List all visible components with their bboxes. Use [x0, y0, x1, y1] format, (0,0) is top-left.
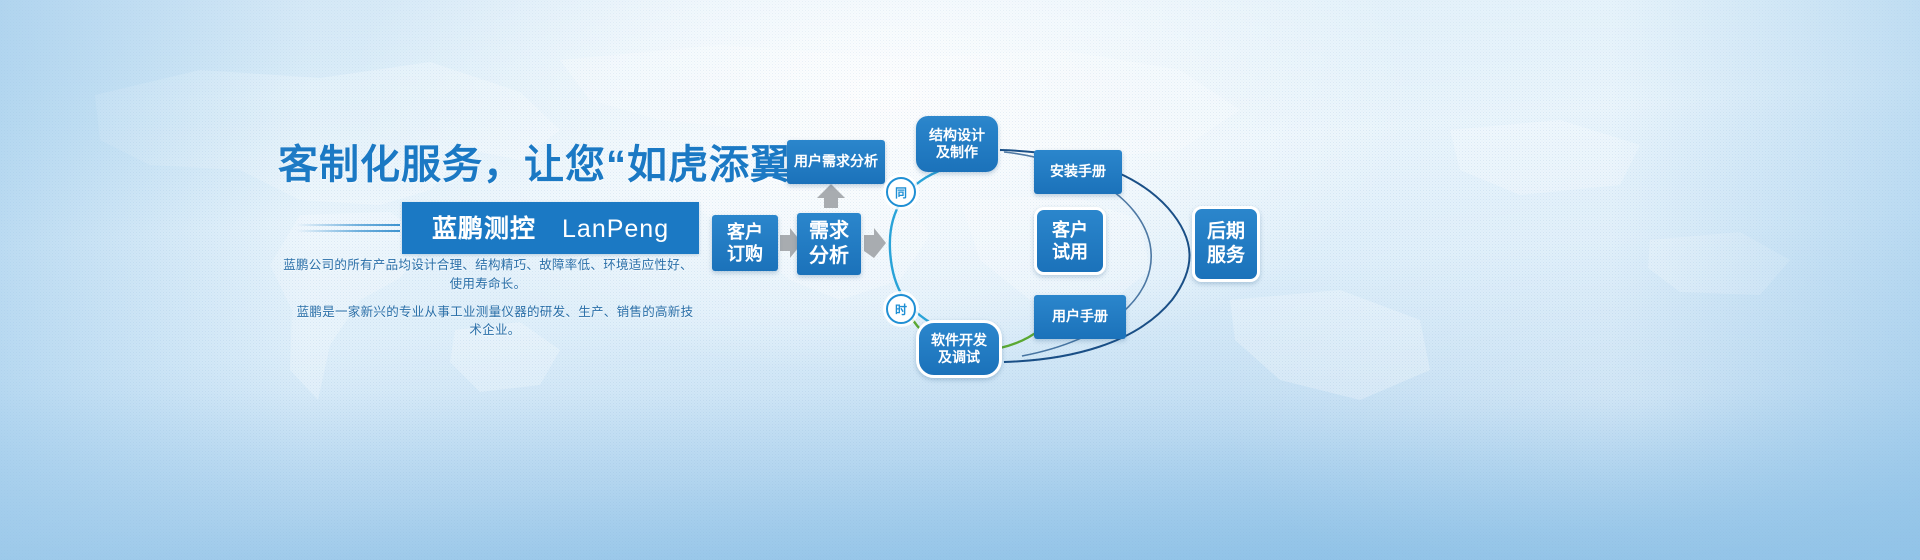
badge-simultaneous-shi: 时 [886, 294, 916, 324]
node-customer-order[interactable]: 客户订购 [712, 215, 778, 271]
flow-connectors [0, 0, 1920, 560]
node-user-requirement-analysis[interactable]: 用户需求分析 [787, 140, 885, 184]
badge-simultaneous-tong: 同 [886, 177, 916, 207]
node-after-sales-service[interactable]: 后期服务 [1192, 206, 1260, 282]
node-software-development[interactable]: 软件开发及调试 [916, 320, 1002, 378]
process-flow-diagram: 用户需求分析 客户订购 需求分析 结构设计及制作 软件开发及调试 安装手册 客户… [0, 0, 1920, 560]
node-structural-design[interactable]: 结构设计及制作 [916, 116, 998, 172]
banner-root: 客制化服务，让您“如虎添翼” 蓝鹏测控LanPeng 蓝鹏公司的所有产品均设计合… [0, 0, 1920, 560]
node-installation-manual[interactable]: 安装手册 [1034, 150, 1122, 194]
node-requirement-analysis[interactable]: 需求分析 [797, 213, 861, 275]
node-user-manual[interactable]: 用户手册 [1034, 295, 1126, 339]
node-customer-trial[interactable]: 客户试用 [1034, 207, 1106, 275]
